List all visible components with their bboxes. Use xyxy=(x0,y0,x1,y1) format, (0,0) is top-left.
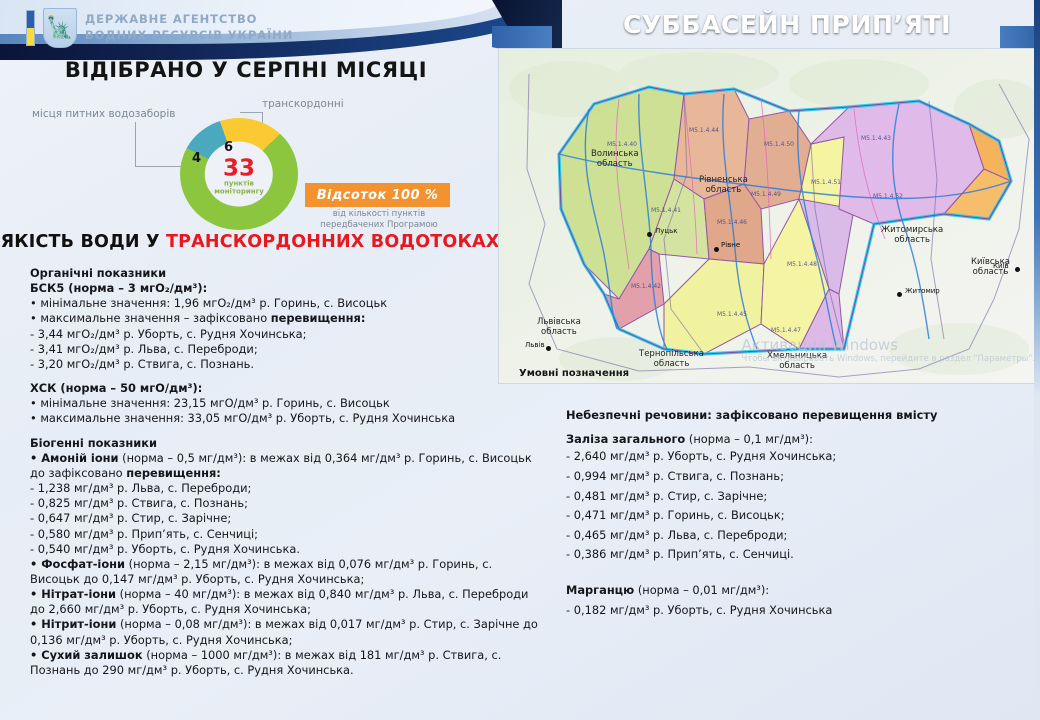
map-basin-code: M5.1.4.47 xyxy=(771,327,801,334)
map-basin-code: M5.1.4.50 xyxy=(764,141,794,148)
map-city-label: Київ xyxy=(993,262,1009,270)
manganese-header: Марганцю (норма – 0,01 мг/дм³): xyxy=(566,583,1028,598)
callout-line-drinking-v xyxy=(135,122,137,167)
manganese-item: - 0,182 мг/дм³ р. Уборть, с. Рудня Хочин… xyxy=(566,603,1028,618)
map-oblast-label: Волинськаобласть xyxy=(591,149,639,169)
map-basin-code: M5.1.4.42 xyxy=(631,283,661,290)
windows-activation-watermark: Активация Windows Чтобы активировать Win… xyxy=(741,336,1035,365)
map-basin-code: M5.1.4.45 xyxy=(717,311,747,318)
percent-badge: Відсоток 100 % xyxy=(305,183,450,207)
xsk-min-line: • мінімальне значення: 23,15 мгО/дм³ р. … xyxy=(30,396,540,411)
map-basin-code: M5.1.4.43 xyxy=(861,135,891,142)
ammonium-item: - 1,238 мг/дм³ р. Льва, с. Переброди; xyxy=(30,481,540,496)
dry-residue-line: • Сухий залишок (норма – 1000 мг/дм³): в… xyxy=(30,648,540,678)
map-oblast-label: Рівненськаобласть xyxy=(699,175,748,195)
ammonium-item: - 0,580 мг/дм³ р. Прип’ять, с. Сенчиці; xyxy=(30,527,540,542)
map-city-dot xyxy=(897,292,902,297)
nitrate-line: • Нітрат-іони (норма – 40 мг/дм³): в меж… xyxy=(30,587,540,617)
map-city-label: Луцьк xyxy=(655,227,678,235)
page-title: ВІДІБРАНО У СЕРПНІ МІСЯЦІ xyxy=(0,58,492,82)
donut-center: 33 пунктів моніторингу xyxy=(205,142,273,207)
map-city-dot xyxy=(546,346,551,351)
organic-header: Органічні показники xyxy=(30,266,166,280)
agency-name-line1: ДЕРЖАВНЕ АГЕНТСТВО xyxy=(85,12,293,28)
donut-center-label: пунктів моніторингу xyxy=(214,180,264,196)
phosphate-line: • Фосфат-іони (норма – 2,15 мг/дм³): в м… xyxy=(30,557,540,587)
pripyat-subbasin-map[interactable]: Волинськаобласть Рівненськаобласть Житом… xyxy=(498,48,1040,384)
map-oblast-label: Житомирськаобласть xyxy=(881,225,943,245)
iron-item: - 0,465 мг/дм³ р. Льва, с. Переброди; xyxy=(566,526,1028,546)
agency-name: ДЕРЖАВНЕ АГЕНТСТВО ВОДНИХ РЕСУРСІВ УКРАЇ… xyxy=(85,12,293,43)
map-basin-code: M5.1.4.46 xyxy=(717,219,747,226)
bsk-max-line: • максимальне значення – зафіксовано пер… xyxy=(30,311,540,326)
map-city-label: Рівне xyxy=(721,241,740,249)
ammonium-line: • Амоній іони (норма – 0,5 мг/дм³): в ме… xyxy=(30,451,540,481)
right-text-column: Небезпечні речовини: зафіксовано перевищ… xyxy=(566,408,1028,618)
slide-root: 🗽 ДЕРЖАВНЕ АГЕНТСТВО ВОДНИХ РЕСУРСІВ УКР… xyxy=(0,0,1040,720)
bsk-item: - 3,20 мгО₂/дм³ р. Ствига, с. Познань. xyxy=(30,357,540,372)
percent-badge-note: від кількості пунктів передбачених Прогр… xyxy=(300,209,458,232)
map-city-dot xyxy=(1015,267,1020,272)
ukraine-trident-emblem-icon: 🗽 xyxy=(43,8,77,48)
bsk-item: - 3,44 мгО₂/дм³ р. Уборть, с. Рудня Хочи… xyxy=(30,327,540,342)
map-oblast-label: Тернопільськаобласть xyxy=(639,349,704,369)
bsk-min-line: • мінімальне значення: 1,96 мгО₂/дм³ р. … xyxy=(30,296,540,311)
map-city-label: Львів xyxy=(525,341,545,349)
slice-value-transboundary: 6 xyxy=(224,140,233,155)
bsk-header: БСК5 (норма – 3 мгО₂/дм³): xyxy=(30,281,207,295)
slice-value-drinking: 4 xyxy=(192,151,201,166)
donut-total-value: 33 xyxy=(223,158,255,180)
quality-title-black: ЯКІСТЬ ВОДИ У xyxy=(1,232,166,252)
agency-branding: 🗽 ДЕРЖАВНЕ АГЕНТСТВО ВОДНИХ РЕСУРСІВ УКР… xyxy=(26,8,293,48)
iron-item: - 0,994 мг/дм³ р. Ствига, с. Познань; xyxy=(566,467,1028,487)
map-basin-code: M5.1.4.51 xyxy=(811,179,841,186)
map-basin-code: M5.1.4.41 xyxy=(651,207,681,214)
nitrite-line: • Нітрит-іони (норма – 0,08 мг/дм³): в м… xyxy=(30,617,540,647)
section-title-quality: ЯКІСТЬ ВОДИ У ТРАНСКОРДОННИХ ВОДОТОКАХ xyxy=(0,232,500,252)
map-legend-label[interactable]: Умовні позначення xyxy=(519,368,629,379)
agency-name-line2: ВОДНИХ РЕСУРСІВ УКРАЇНИ xyxy=(85,28,293,44)
monitoring-points-donut-chart: 33 пунктів моніторингу 4 6 xyxy=(180,118,298,230)
map-basin-code: M5.1.4.48 xyxy=(787,261,817,268)
quality-title-red: ТРАНСКОРДОННИХ ВОДОТОКАХ xyxy=(166,232,499,252)
chart-callout-label-transboundary: транскордонні xyxy=(262,98,344,110)
xsk-max-line: • максимальне значення: 33,05 мгО/дм³ р.… xyxy=(30,411,540,426)
right-edge-strip xyxy=(1034,0,1040,720)
banner-title: СУББАСЕЙН ПРИП’ЯТІ xyxy=(623,10,951,39)
hazardous-header: Небезпечні речовини: зафіксовано перевищ… xyxy=(566,408,937,422)
left-text-column: Органічні показники БСК5 (норма – 3 мгО₂… xyxy=(30,266,540,678)
map-city-dot xyxy=(714,247,719,252)
biogen-header: Біогенні показники xyxy=(30,436,157,450)
map-oblast-label: Львівськаобласть xyxy=(537,317,581,337)
map-basin-code: M5.1.4.49 xyxy=(751,191,781,198)
map-city-label: Житомир xyxy=(905,287,940,295)
percent-note-line1: від кількості пунктів xyxy=(300,209,458,220)
iron-header: Заліза загального (норма – 0,1 мг/дм³): xyxy=(566,432,1028,447)
ammonium-item: - 0,647 мг/дм³ р. Стир, с. Зарічне; xyxy=(30,511,540,526)
map-basin-code: M5.1.4.40 xyxy=(607,141,637,148)
iron-item: - 0,481 мг/дм³ р. Стир, с. Зарічне; xyxy=(566,487,1028,507)
map-basin-code: M5.1.4.44 xyxy=(689,127,719,134)
title-banner: СУББАСЕЙН ПРИП’ЯТІ xyxy=(534,0,1040,48)
ukraine-flag-bar-icon xyxy=(26,10,35,46)
iron-item: - 0,471 мг/дм³ р. Горинь, с. Висоцьк; xyxy=(566,506,1028,526)
iron-item: - 0,386 мг/дм³ р. Прип’ять, с. Сенчиці. xyxy=(566,545,1028,565)
map-basin-code: M5.1.4.52 xyxy=(873,193,903,200)
map-city-dot xyxy=(647,232,652,237)
bsk-item: - 3,41 мгО₂/дм³ р. Льва, с. Переброди; xyxy=(30,342,540,357)
ammonium-item: - 0,825 мг/дм³ р. Ствига, с. Познань; xyxy=(30,496,540,511)
ammonium-item: - 0,540 мг/дм³ р. Уборть, с. Рудня Хочин… xyxy=(30,542,540,557)
xsk-header: ХСК (норма – 50 мгО/дм³): xyxy=(30,381,202,395)
chart-callout-label-drinking: місця питних водозаборів xyxy=(32,108,175,120)
percent-note-line2: передбачених Програмою xyxy=(300,220,458,231)
callout-line-transboundary-h xyxy=(240,112,263,114)
iron-item: - 2,640 мг/дм³ р. Уборть, с. Рудня Хочин… xyxy=(566,447,1028,467)
